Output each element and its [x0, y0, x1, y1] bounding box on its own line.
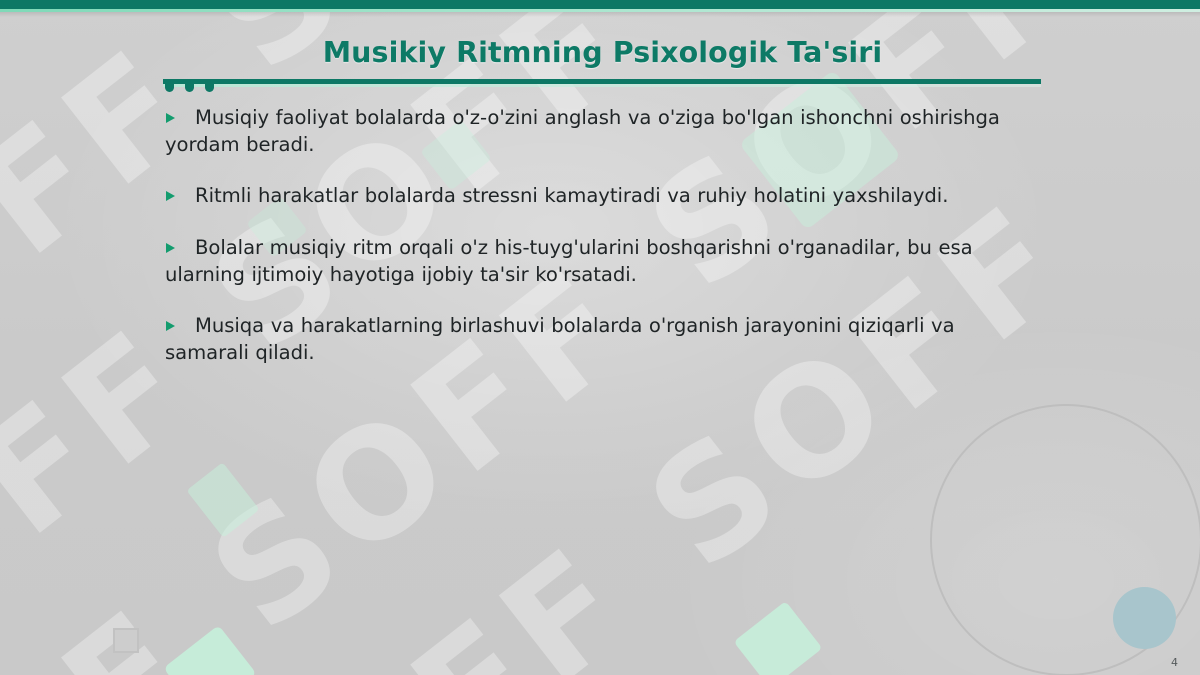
page-number: 4	[1171, 656, 1178, 669]
title-underline-dot-icon	[165, 83, 174, 92]
list-item: Ritmli harakatlar bolalarda stressni kam…	[165, 182, 1035, 209]
list-item: Musiqa va harakatlarning birlashuvi bola…	[165, 312, 1035, 366]
presentation-slide: SOFF SOFF SOFF SOFF SOFF SOFF SOFF SOFF …	[0, 0, 1200, 675]
header-band-shadow	[0, 12, 1200, 17]
title-underline-glow	[163, 84, 1041, 87]
decorative-square	[113, 628, 139, 653]
title-underline-dot-icon	[205, 83, 214, 92]
watermark-text: SOFF	[180, 512, 666, 675]
title-underline-dot-icon	[185, 83, 194, 92]
list-item-text: Musiqa va harakatlarning birlashuvi bola…	[165, 312, 1035, 366]
triangle-bullet-icon	[166, 191, 175, 201]
list-item-text: Musiqiy faoliyat bolalarda o'z-o'zini an…	[165, 104, 1035, 158]
watermark-text: SOFF	[0, 574, 228, 675]
list-item-text: Ritmli harakatlar bolalarda stressni kam…	[165, 182, 1035, 209]
title-underline	[163, 79, 1041, 97]
page-title: Musikiy Ritmning Psixologik Ta'siri	[165, 36, 1040, 69]
bullet-list: Musiqiy faoliyat bolalarda o'z-o'zini an…	[165, 104, 1035, 367]
watermark-accent-shape	[163, 625, 256, 675]
header-band-accent	[0, 9, 1200, 12]
triangle-bullet-icon	[166, 243, 175, 253]
list-item: Musiqiy faoliyat bolalarda o'z-o'zini an…	[165, 104, 1035, 158]
triangle-bullet-icon	[166, 321, 175, 331]
list-item-text: Bolalar musiqiy ritm orqali o'z his-tuyg…	[165, 234, 1035, 288]
list-item: Bolalar musiqiy ritm orqali o'z his-tuyg…	[165, 234, 1035, 288]
watermark-accent-shape	[186, 462, 259, 538]
decorative-circle-dot	[1113, 587, 1176, 649]
triangle-bullet-icon	[166, 113, 175, 123]
header-band	[0, 0, 1200, 9]
watermark-accent-shape	[734, 601, 823, 675]
